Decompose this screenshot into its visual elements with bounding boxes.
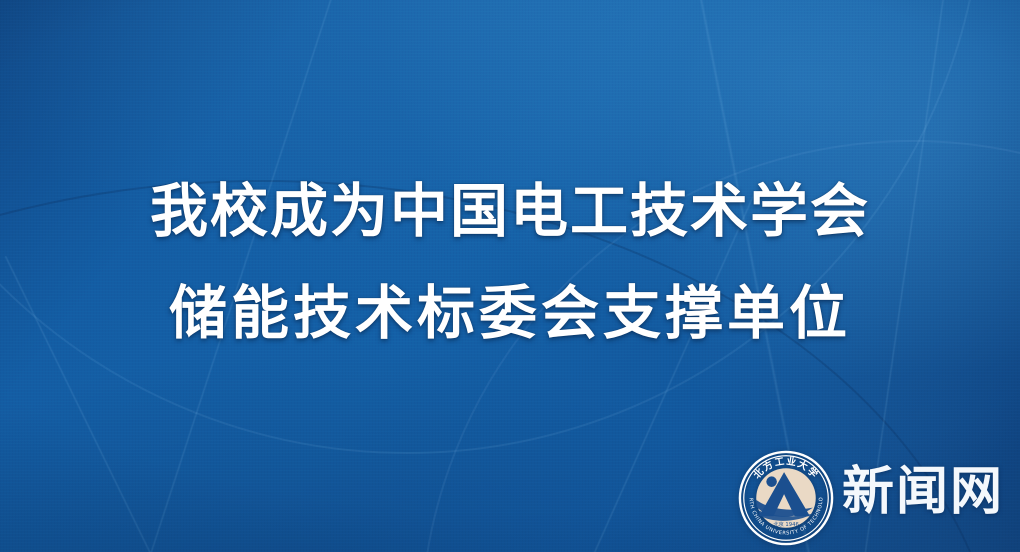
ncut-university-emblem-icon: 北京 1946 北方工业大学 NORTH CHINA UNIVERSITY OF… <box>738 450 834 546</box>
headline-line-1: 我校成为中国电工技术学会 <box>0 182 1020 240</box>
brand-logo-block[interactable]: 北京 1946 北方工业大学 NORTH CHINA UNIVERSITY OF… <box>738 450 1004 546</box>
headline: 我校成为中国电工技术学会 储能技术标委会支撑单位 <box>0 182 1020 342</box>
headline-line-2: 储能技术标委会支撑单位 <box>0 284 1020 342</box>
news-banner: 我校成为中国电工技术学会 储能技术标委会支撑单位 <box>0 0 1020 552</box>
site-name-text[interactable]: 新闻网 <box>842 466 1004 530</box>
